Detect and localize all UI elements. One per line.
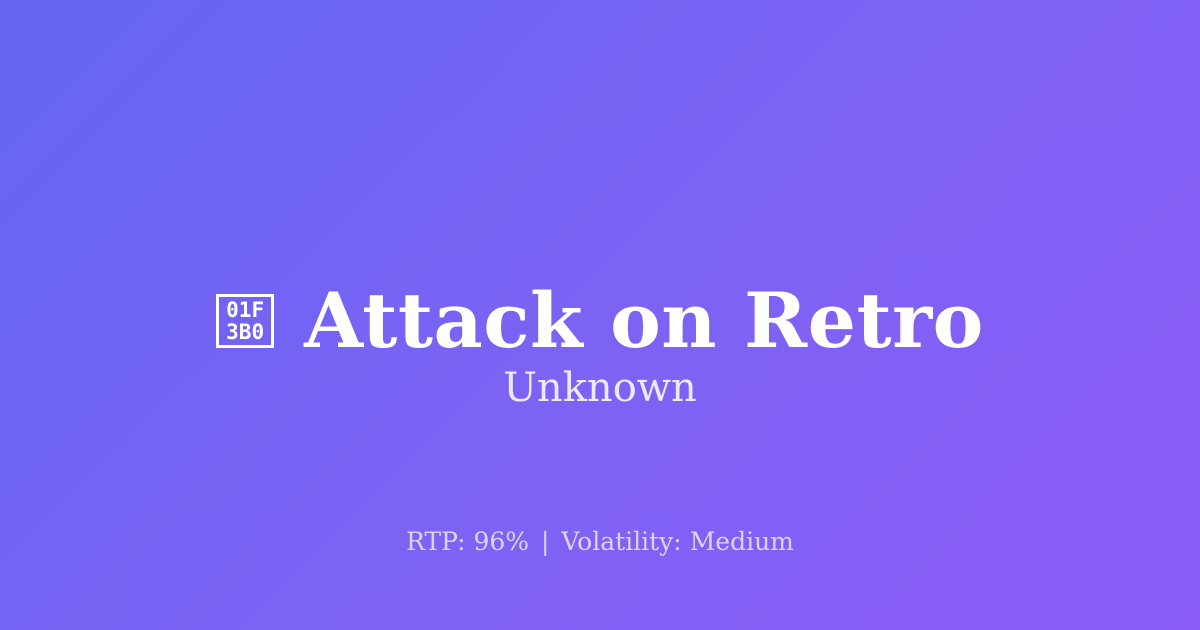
volatility-value: Medium bbox=[690, 527, 794, 556]
game-provider: Unknown bbox=[0, 364, 1200, 412]
slot-machine-icon: 01F 3B0 bbox=[216, 294, 274, 348]
rtp-label: RTP: bbox=[406, 527, 465, 556]
rtp-value: 96% bbox=[473, 527, 529, 556]
tofu-codepoint-top: 01F bbox=[226, 299, 264, 321]
tofu-codepoint-bottom: 3B0 bbox=[226, 321, 264, 343]
volatility-label: Volatility: bbox=[561, 527, 681, 556]
game-og-card: 01F 3B0 Attack on Retro Unknown RTP: 96%… bbox=[0, 0, 1200, 630]
stats-separator: | bbox=[537, 527, 553, 556]
game-stats: RTP: 96% | Volatility: Medium bbox=[0, 527, 1200, 557]
game-title: Attack on Retro bbox=[304, 283, 984, 359]
